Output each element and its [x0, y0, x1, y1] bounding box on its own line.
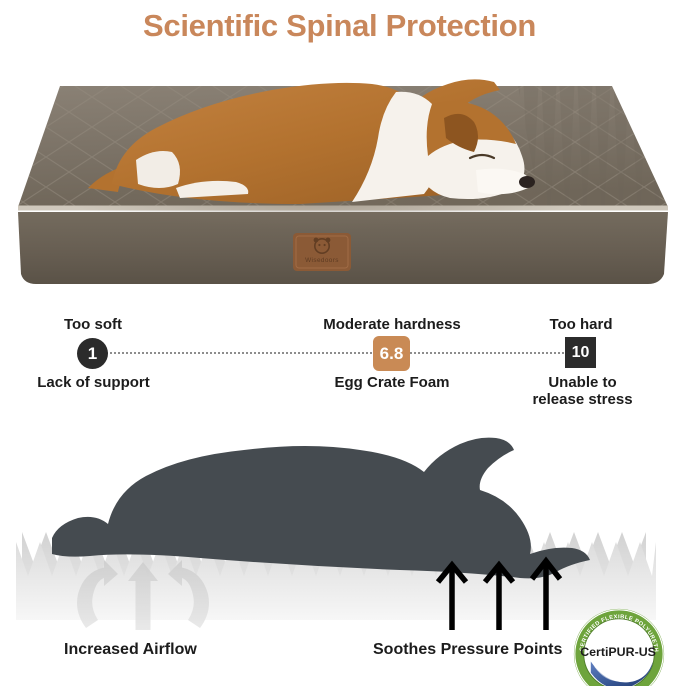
unable-line-2: release stress	[532, 391, 632, 408]
svg-text:Wisedoors: Wisedoors	[305, 257, 339, 264]
scale-label-moderate-hardness: Moderate hardness	[292, 316, 492, 333]
scale-label-too-hard: Too hard	[521, 316, 641, 333]
caption-increased-airflow: Increased Airflow	[64, 641, 197, 659]
certipur-us-seal: CONTAINS CERTIFIED FLEXIBLE POLYURETHANE…	[572, 607, 666, 686]
brand-logo-patch: Wisedoors	[293, 233, 351, 271]
dog-bed-illustration: Wisedoors	[0, 52, 679, 302]
infographic-page: Scientific Spinal Protection	[0, 0, 679, 686]
scale-label-lack-of-support: Lack of support	[21, 374, 166, 391]
scale-badge-10: 10	[565, 337, 596, 368]
caption-soothes-pressure-points: Soothes Pressure Points	[373, 641, 562, 659]
certipur-seal-svg: CONTAINS CERTIFIED FLEXIBLE POLYURETHANE…	[572, 607, 666, 686]
page-title-bar: Scientific Spinal Protection	[0, 0, 679, 52]
seal-brand-text: CertiPUR-US ®	[580, 644, 656, 659]
hero-image: Wisedoors	[0, 52, 679, 302]
svg-text:®: ®	[652, 644, 656, 650]
svg-text:CertiPUR-US: CertiPUR-US	[580, 645, 656, 659]
page-title: Scientific Spinal Protection	[143, 8, 536, 44]
scale-label-too-soft: Too soft	[38, 316, 148, 333]
scale-label-unable-to-release-stress: Unable to release stress	[510, 374, 655, 408]
scale-badge-6-8: 6.8	[373, 336, 410, 371]
unable-line-1: Unable to	[548, 374, 616, 391]
scale-badge-1: 1	[77, 338, 108, 369]
scale-connector-line	[94, 352, 584, 354]
scale-label-egg-crate-foam: Egg Crate Foam	[301, 374, 483, 391]
